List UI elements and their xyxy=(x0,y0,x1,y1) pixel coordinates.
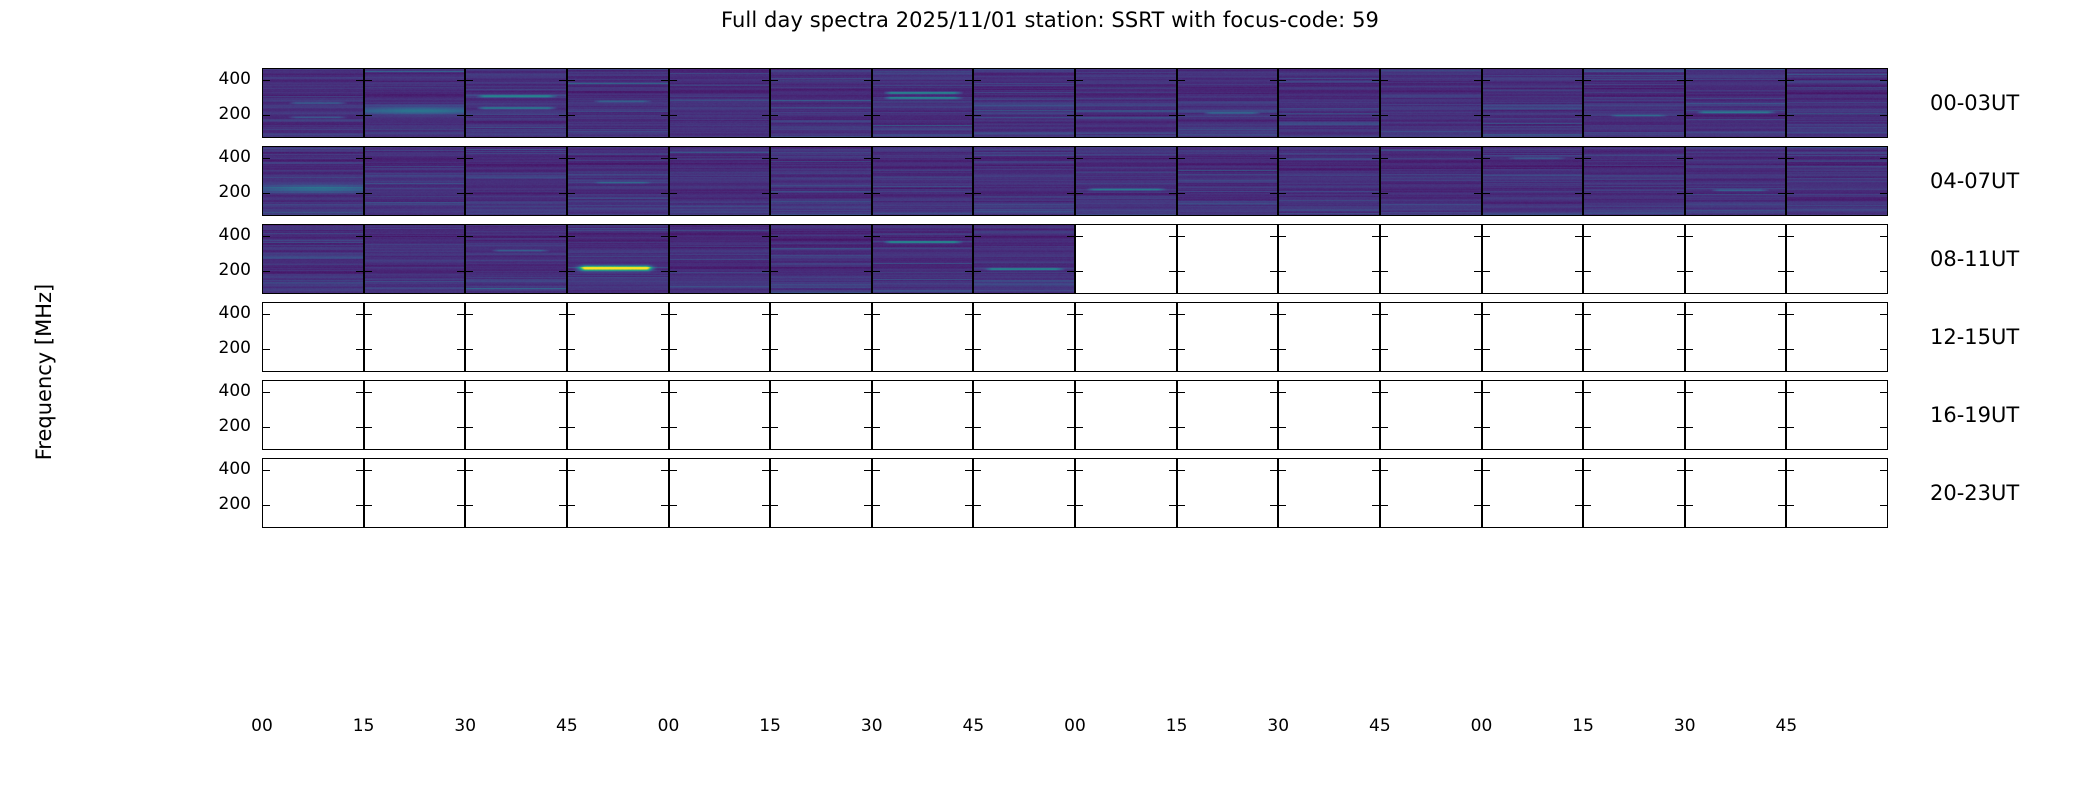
y-tick-mark xyxy=(365,158,372,160)
spectrogram-image xyxy=(365,147,465,215)
y-tick-mark xyxy=(670,505,677,507)
y-tick-mark xyxy=(559,236,566,238)
y-tick-label: 400 xyxy=(219,459,251,479)
x-tick-label: 00 xyxy=(251,716,273,736)
spectrogram-row-12-15ut xyxy=(262,302,1888,372)
y-tick-mark xyxy=(457,392,464,394)
y-tick-mark xyxy=(864,193,871,195)
spectrogram-panel xyxy=(1786,458,1888,528)
y-tick-mark xyxy=(1474,115,1481,117)
spectrogram-image xyxy=(974,69,1074,137)
y-tick-mark xyxy=(1381,193,1388,195)
y-tick-mark xyxy=(1778,80,1785,82)
y-tick-mark xyxy=(356,392,363,394)
spectrogram-image xyxy=(365,225,465,293)
spectrogram-figure: Full day spectra 2025/11/01 station: SSR… xyxy=(0,0,2100,800)
y-tick-label: 200 xyxy=(219,338,251,358)
y-tick-mark xyxy=(1778,470,1785,472)
y-tick-mark xyxy=(457,470,464,472)
y-tick-mark xyxy=(762,158,769,160)
y-tick-mark xyxy=(1483,470,1490,472)
y-tick-mark xyxy=(1677,427,1684,429)
y-tick-mark xyxy=(974,314,981,316)
y-tick-mark xyxy=(1778,427,1785,429)
spectrogram-panel xyxy=(973,146,1075,216)
y-tick-mark xyxy=(1483,115,1490,117)
y-tick-mark xyxy=(1178,236,1185,238)
y-tick-mark xyxy=(1169,392,1176,394)
y-tick-mark xyxy=(1372,193,1379,195)
y-tick-mark xyxy=(1381,115,1388,117)
spectrogram-panel xyxy=(669,380,771,450)
x-tick-mark xyxy=(974,527,976,528)
y-tick-mark xyxy=(974,193,981,195)
y-tick-mark xyxy=(1076,271,1083,273)
spectrogram-panel xyxy=(567,380,669,450)
y-tick-mark xyxy=(263,470,270,472)
x-tick-label: 15 xyxy=(759,716,781,736)
spectrogram-panel xyxy=(1075,68,1177,138)
y-tick-mark xyxy=(568,236,575,238)
y-tick-mark xyxy=(864,427,871,429)
y-tick-mark xyxy=(1076,392,1083,394)
spectrogram-panel xyxy=(567,302,669,372)
y-tick-mark xyxy=(466,193,473,195)
y-tick-mark xyxy=(974,115,981,117)
spectrogram-panel xyxy=(1786,224,1888,294)
spectrogram-panel xyxy=(1482,380,1584,450)
spectrogram-panel xyxy=(1583,146,1685,216)
y-tick-mark xyxy=(864,505,871,507)
y-tick-mark xyxy=(1067,115,1074,117)
spectrogram-image xyxy=(1178,69,1278,137)
spectrogram-panel xyxy=(1786,68,1888,138)
x-tick-label: 30 xyxy=(1674,716,1696,736)
y-tick-mark xyxy=(1483,505,1490,507)
y-tick-mark xyxy=(1677,349,1684,351)
spectrogram-panel xyxy=(1482,224,1584,294)
y-tick-mark xyxy=(1270,236,1277,238)
y-tick-mark xyxy=(1880,392,1887,394)
y-tick-mark xyxy=(1575,470,1582,472)
x-tick-mark xyxy=(670,527,672,528)
y-tick-mark xyxy=(559,314,566,316)
y-tick-mark xyxy=(457,115,464,117)
y-tick-mark xyxy=(762,505,769,507)
y-tick-mark xyxy=(1279,470,1286,472)
y-tick-mark xyxy=(965,193,972,195)
spectrogram-panel xyxy=(262,302,364,372)
y-tick-mark xyxy=(1880,505,1887,507)
y-tick-mark xyxy=(1778,271,1785,273)
spectrogram-panel xyxy=(1583,68,1685,138)
spectrogram-image xyxy=(771,69,871,137)
spectrogram-panel xyxy=(770,380,872,450)
spectrogram-panel xyxy=(1380,146,1482,216)
y-tick-mark xyxy=(1584,115,1591,117)
spectrogram-panel xyxy=(669,458,771,528)
y-tick-mark xyxy=(1076,427,1083,429)
spectrogram-panel xyxy=(1685,224,1787,294)
y-tick-mark xyxy=(771,427,778,429)
y-tick-mark xyxy=(965,314,972,316)
y-tick-mark xyxy=(1778,158,1785,160)
y-tick-mark xyxy=(568,505,575,507)
y-tick-mark xyxy=(771,271,778,273)
y-tick-mark xyxy=(1270,349,1277,351)
spectrogram-panel xyxy=(669,224,771,294)
spectrogram-panel xyxy=(872,302,974,372)
spectrogram-panel xyxy=(465,224,567,294)
spectrogram-panel xyxy=(567,458,669,528)
y-tick-mark xyxy=(1474,193,1481,195)
y-tick-mark xyxy=(1169,80,1176,82)
y-tick-mark xyxy=(1474,271,1481,273)
y-tick-mark xyxy=(466,314,473,316)
y-tick-mark xyxy=(1381,271,1388,273)
y-tick-label: 200 xyxy=(219,416,251,436)
y-tick-mark xyxy=(762,349,769,351)
x-tick-mark xyxy=(1483,527,1485,528)
y-tick-mark xyxy=(1279,314,1286,316)
y-tick-mark xyxy=(466,470,473,472)
y-tick-mark xyxy=(1178,427,1185,429)
spectrogram-panel xyxy=(1482,146,1584,216)
spectrogram-image xyxy=(568,147,668,215)
spectrogram-panel xyxy=(770,302,872,372)
y-tick-mark xyxy=(1178,158,1185,160)
y-tick-mark xyxy=(1067,392,1074,394)
y-tick-mark xyxy=(356,193,363,195)
y-tick-mark xyxy=(661,427,668,429)
y-tick-mark xyxy=(1270,115,1277,117)
y-tick-mark xyxy=(1880,80,1887,82)
y-tick-mark xyxy=(356,427,363,429)
spectrogram-image xyxy=(1686,69,1786,137)
y-tick-mark xyxy=(1067,193,1074,195)
y-tick-mark xyxy=(1483,271,1490,273)
y-tick-mark xyxy=(974,158,981,160)
spectrogram-panel xyxy=(1685,302,1787,372)
row-label-20-23ut: 20-23UT xyxy=(1930,481,2019,505)
x-tick-mark xyxy=(466,527,468,528)
y-tick-mark xyxy=(1372,349,1379,351)
y-tick-mark xyxy=(356,158,363,160)
y-tick-mark xyxy=(1474,505,1481,507)
y-tick-mark xyxy=(1677,80,1684,82)
y-tick-mark xyxy=(1381,505,1388,507)
y-tick-mark xyxy=(466,271,473,273)
spectrogram-row-08-11ut xyxy=(262,224,1888,294)
x-tick-label: 15 xyxy=(1166,716,1188,736)
y-tick-mark xyxy=(263,392,270,394)
y-tick-mark xyxy=(1787,470,1794,472)
y-tick-mark xyxy=(1677,505,1684,507)
spectrogram-panel xyxy=(973,380,1075,450)
y-tick-mark xyxy=(1381,392,1388,394)
y-tick-mark xyxy=(1178,314,1185,316)
y-tick-mark xyxy=(965,505,972,507)
y-tick-mark xyxy=(965,158,972,160)
y-tick-mark xyxy=(1787,193,1794,195)
y-tick-mark xyxy=(1787,158,1794,160)
y-tick-mark xyxy=(873,115,880,117)
y-tick-mark xyxy=(1372,392,1379,394)
y-tick-mark xyxy=(771,236,778,238)
y-tick-mark xyxy=(771,505,778,507)
spectrogram-panel xyxy=(872,458,974,528)
y-tick-mark xyxy=(1880,314,1887,316)
y-tick-mark xyxy=(559,158,566,160)
spectrogram-panel xyxy=(1380,224,1482,294)
spectrogram-panel xyxy=(364,68,466,138)
y-tick-mark xyxy=(771,158,778,160)
spectrogram-panel xyxy=(973,458,1075,528)
y-tick-mark xyxy=(1178,80,1185,82)
y-tick-mark xyxy=(1169,505,1176,507)
spectrogram-panel xyxy=(262,146,364,216)
spectrogram-panel xyxy=(1685,380,1787,450)
y-tick-mark xyxy=(1067,427,1074,429)
spectrogram-panel xyxy=(872,224,974,294)
y-tick-mark xyxy=(568,314,575,316)
y-tick-mark xyxy=(1686,80,1693,82)
y-tick-mark xyxy=(873,349,880,351)
y-tick-mark xyxy=(365,505,372,507)
y-tick-mark xyxy=(1372,236,1379,238)
y-tick-label: 200 xyxy=(219,182,251,202)
y-tick-mark xyxy=(365,80,372,82)
y-tick-mark xyxy=(1279,236,1286,238)
y-tick-mark xyxy=(1270,470,1277,472)
y-tick-label: 400 xyxy=(219,147,251,167)
y-tick-mark xyxy=(356,236,363,238)
y-tick-mark xyxy=(1372,427,1379,429)
y-tick-mark xyxy=(771,392,778,394)
y-tick-mark xyxy=(1677,271,1684,273)
y-tick-mark xyxy=(670,349,677,351)
x-tick-mark xyxy=(873,527,875,528)
spectrogram-panel xyxy=(1177,224,1279,294)
y-tick-mark xyxy=(1169,470,1176,472)
x-tick-mark xyxy=(771,527,773,528)
y-tick-mark xyxy=(873,314,880,316)
y-tick-mark xyxy=(670,271,677,273)
y-tick-mark xyxy=(466,349,473,351)
y-tick-mark xyxy=(1076,80,1083,82)
y-tick-mark xyxy=(568,470,575,472)
y-tick-mark xyxy=(457,427,464,429)
y-tick-mark xyxy=(1372,470,1379,472)
row-label-04-07ut: 04-07UT xyxy=(1930,169,2019,193)
y-tick-mark xyxy=(1677,115,1684,117)
y-tick-mark xyxy=(466,115,473,117)
y-tick-mark xyxy=(1787,314,1794,316)
spectrogram-panel xyxy=(364,146,466,216)
y-tick-mark xyxy=(559,427,566,429)
spectrogram-panel xyxy=(364,224,466,294)
spectrogram-image xyxy=(670,225,770,293)
y-tick-mark xyxy=(1076,115,1083,117)
y-tick-mark xyxy=(263,349,270,351)
y-tick-mark xyxy=(1178,349,1185,351)
y-tick-mark xyxy=(356,314,363,316)
y-tick-mark xyxy=(1474,470,1481,472)
y-tick-mark xyxy=(559,80,566,82)
y-tick-mark xyxy=(873,236,880,238)
y-tick-mark xyxy=(1584,236,1591,238)
y-tick-mark xyxy=(1067,158,1074,160)
y-tick-mark xyxy=(1270,392,1277,394)
spectrogram-panel xyxy=(973,302,1075,372)
spectrogram-panel xyxy=(973,68,1075,138)
y-tick-mark xyxy=(1787,392,1794,394)
spectrogram-image xyxy=(873,69,973,137)
y-tick-mark xyxy=(568,271,575,273)
y-tick-mark xyxy=(1778,115,1785,117)
y-tick-mark xyxy=(568,392,575,394)
y-tick-mark xyxy=(1067,236,1074,238)
y-tick-mark xyxy=(670,158,677,160)
y-tick-mark xyxy=(1178,392,1185,394)
y-tick-mark xyxy=(1279,427,1286,429)
spectrogram-panel xyxy=(1075,380,1177,450)
y-tick-mark xyxy=(1686,314,1693,316)
y-tick-mark xyxy=(559,271,566,273)
y-tick-mark xyxy=(1067,349,1074,351)
x-tick-mark xyxy=(263,527,265,528)
spectrogram-panel xyxy=(1278,458,1380,528)
y-tick-mark xyxy=(568,349,575,351)
y-tick-mark xyxy=(1880,115,1887,117)
y-tick-mark xyxy=(1584,427,1591,429)
spectrogram-panel xyxy=(1685,68,1787,138)
y-tick-mark xyxy=(1474,80,1481,82)
y-tick-mark xyxy=(1270,80,1277,82)
y-tick-mark xyxy=(1584,470,1591,472)
y-tick-mark xyxy=(873,80,880,82)
y-tick-mark xyxy=(1677,193,1684,195)
y-tick-mark xyxy=(466,392,473,394)
y-tick-mark xyxy=(1270,158,1277,160)
y-tick-mark xyxy=(365,236,372,238)
y-tick-mark xyxy=(1787,427,1794,429)
y-tick-mark xyxy=(1686,271,1693,273)
spectrogram-panel xyxy=(262,380,364,450)
y-tick-mark xyxy=(1575,349,1582,351)
y-tick-mark xyxy=(661,392,668,394)
y-tick-mark xyxy=(661,236,668,238)
y-tick-mark xyxy=(661,470,668,472)
spectrogram-image xyxy=(568,225,668,293)
x-tick-mark xyxy=(1584,527,1586,528)
y-tick-mark xyxy=(1178,193,1185,195)
y-tick-mark xyxy=(1076,349,1083,351)
y-tick-mark xyxy=(873,427,880,429)
spectrogram-image xyxy=(1584,69,1684,137)
y-tick-mark xyxy=(1279,193,1286,195)
spectrogram-row-16-19ut xyxy=(262,380,1888,450)
y-tick-mark xyxy=(1474,349,1481,351)
y-tick-mark xyxy=(1686,427,1693,429)
y-tick-mark xyxy=(457,80,464,82)
y-tick-mark xyxy=(1880,158,1887,160)
y-tick-mark xyxy=(1076,158,1083,160)
y-tick-mark xyxy=(1076,470,1083,472)
y-tick-mark xyxy=(974,392,981,394)
y-tick-mark xyxy=(873,505,880,507)
y-tick-mark xyxy=(1381,314,1388,316)
y-tick-mark xyxy=(1787,349,1794,351)
spectrogram-panel xyxy=(364,302,466,372)
y-tick-mark xyxy=(1686,505,1693,507)
y-tick-mark xyxy=(1169,115,1176,117)
y-tick-mark xyxy=(1169,314,1176,316)
spectrogram-panel xyxy=(567,146,669,216)
y-tick-mark xyxy=(466,505,473,507)
y-tick-mark xyxy=(1880,349,1887,351)
y-tick-mark xyxy=(457,271,464,273)
spectrogram-panel xyxy=(1177,146,1279,216)
spectrogram-image xyxy=(365,69,465,137)
y-tick-mark xyxy=(864,392,871,394)
spectrogram-panel xyxy=(567,224,669,294)
x-tick-label: 30 xyxy=(1267,716,1289,736)
spectrogram-panel xyxy=(1177,302,1279,372)
spectrogram-panel xyxy=(1482,68,1584,138)
row-label-16-19ut: 16-19UT xyxy=(1930,403,2019,427)
y-tick-mark xyxy=(974,236,981,238)
y-tick-mark xyxy=(762,314,769,316)
spectrogram-panel xyxy=(1380,458,1482,528)
y-tick-mark xyxy=(864,470,871,472)
y-tick-label: 400 xyxy=(219,69,251,89)
spectrogram-image xyxy=(1787,69,1887,137)
x-tick-label: 15 xyxy=(353,716,375,736)
spectrogram-image xyxy=(873,225,973,293)
y-tick-mark xyxy=(1067,80,1074,82)
spectrogram-panel xyxy=(1583,380,1685,450)
y-tick-mark xyxy=(1575,505,1582,507)
spectrogram-image xyxy=(1686,147,1786,215)
y-tick-mark xyxy=(965,80,972,82)
spectrogram-image xyxy=(974,147,1074,215)
spectrogram-panel xyxy=(770,458,872,528)
y-tick-mark xyxy=(1067,505,1074,507)
y-tick-mark xyxy=(365,115,372,117)
figure-title: Full day spectra 2025/11/01 station: SSR… xyxy=(0,8,2100,32)
y-tick-mark xyxy=(661,193,668,195)
spectrogram-panel xyxy=(465,458,567,528)
y-tick-mark xyxy=(1169,236,1176,238)
y-tick-mark xyxy=(670,314,677,316)
spectrogram-panel xyxy=(364,380,466,450)
spectrogram-panel xyxy=(1786,380,1888,450)
spectrogram-image xyxy=(670,147,770,215)
y-tick-mark xyxy=(1787,115,1794,117)
y-tick-mark xyxy=(1483,193,1490,195)
y-tick-mark xyxy=(974,80,981,82)
y-tick-mark xyxy=(1880,470,1887,472)
spectrogram-image xyxy=(1076,147,1176,215)
x-tick-mark xyxy=(1279,527,1281,528)
y-tick-mark xyxy=(1584,349,1591,351)
y-tick-mark xyxy=(1483,349,1490,351)
y-tick-mark xyxy=(762,115,769,117)
y-tick-mark xyxy=(1686,349,1693,351)
y-tick-mark xyxy=(1778,505,1785,507)
spectrogram-image xyxy=(1381,69,1481,137)
